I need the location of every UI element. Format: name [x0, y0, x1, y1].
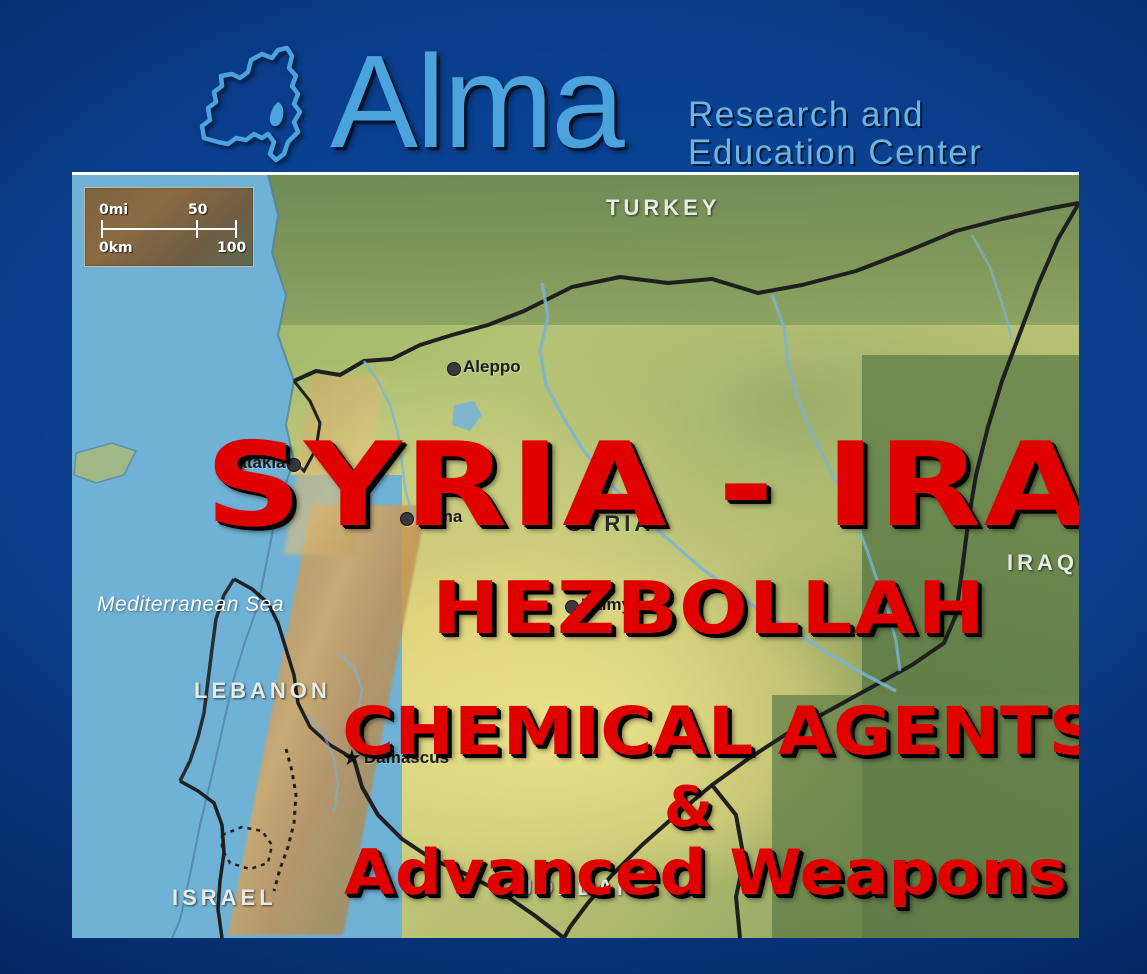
scale-label-km-end: 100 — [217, 240, 246, 256]
country-label-lebanon: LEBANON — [194, 678, 331, 704]
scale-tick-mid — [196, 220, 198, 238]
map-image: 0mi 50 0km 100 TURKEY SYRIA IRAQ LEBANON… — [72, 172, 1079, 938]
scale-label-miles-end: 50 — [188, 202, 207, 218]
lebanon-israel-outline-icon — [188, 42, 338, 167]
map-vector-overlay — [72, 175, 1079, 938]
headline-line-2: HEZBOLLAH — [432, 572, 986, 644]
city-marker-aleppo — [447, 362, 461, 376]
tagline-line-2: Education Center — [688, 134, 1108, 172]
header-logo-band: Alma Research and Education Center — [0, 0, 1147, 172]
country-label-iraq: IRAQ — [1007, 550, 1078, 576]
slide-canvas: Alma Research and Education Center — [0, 0, 1147, 974]
scale-label-miles-start: 0mi — [99, 202, 128, 218]
scale-tick-start — [101, 220, 103, 238]
brand-tagline: Research and Education Center — [688, 96, 1108, 172]
headline-ampersand: & — [664, 780, 713, 836]
headline-line-3: CHEMICAL AGENTS — [342, 699, 1079, 765]
scale-tick-end — [235, 220, 237, 238]
brand-wordmark: Alma — [330, 36, 623, 168]
water-label-mediterranean-sea: Mediterranean Sea — [97, 593, 284, 617]
scale-bar-line — [101, 228, 237, 230]
country-label-turkey: TURKEY — [606, 195, 720, 221]
map-scale-bar: 0mi 50 0km 100 — [84, 187, 254, 267]
city-label-aleppo: Aleppo — [463, 357, 521, 377]
country-label-israel: ISRAEL — [172, 885, 277, 911]
headline-line-1: SYRIA - IRAN — [205, 428, 1079, 544]
headline-line-5: Advanced Weapons — [344, 842, 1067, 904]
scale-label-km-start: 0km — [99, 240, 133, 256]
tagline-line-1: Research and — [688, 96, 1108, 134]
